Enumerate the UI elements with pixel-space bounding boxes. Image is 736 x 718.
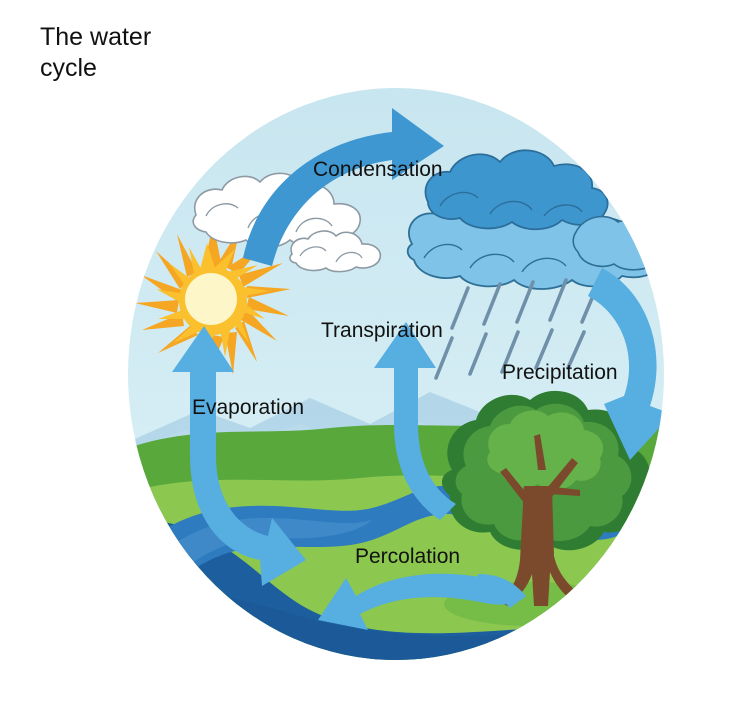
water-cycle-illustration: [0, 0, 736, 718]
label-evaporation: Evaporation: [192, 397, 304, 419]
label-precipitation: Precipitation: [502, 362, 618, 384]
label-percolation: Percolation: [355, 546, 460, 568]
page-root: The water cycle: [0, 0, 736, 718]
label-transpiration: Transpiration: [321, 320, 443, 342]
label-condensation: Condensation: [313, 159, 443, 181]
water-cycle-diagram: Condensation Transpiration Precipitation…: [0, 0, 736, 718]
rain-cloud-icon: [408, 150, 665, 289]
